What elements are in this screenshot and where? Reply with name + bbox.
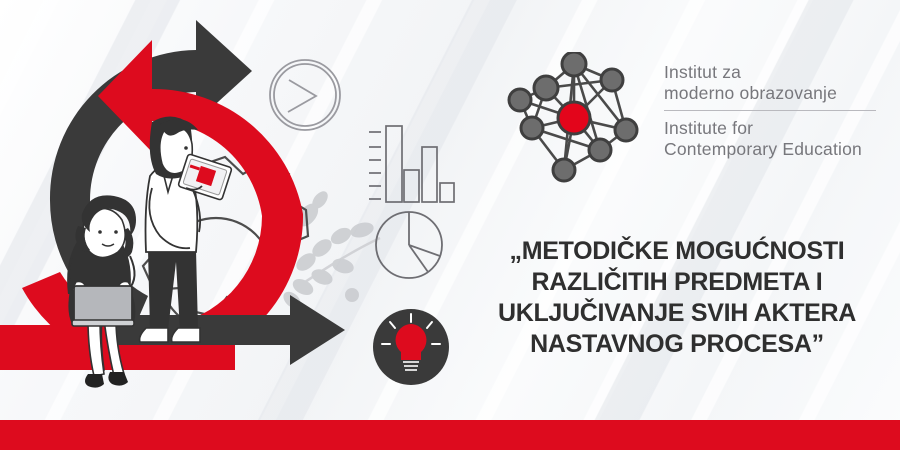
network-graph-logo-icon xyxy=(500,52,650,192)
headline-line-1: „METODIČKE MOGUĆNOSTI xyxy=(458,236,896,267)
laptop xyxy=(72,286,134,326)
logo[interactable]: Institut za moderno obrazovanje Institut… xyxy=(500,52,876,192)
headline-line-2: RAZLIČITIH PREDMETA I xyxy=(458,267,896,298)
headline-line-4: NASTAVNOG PROCESA” xyxy=(458,329,896,360)
illustration xyxy=(0,0,480,420)
logo-text-block: Institut za moderno obrazovanje Institut… xyxy=(664,52,876,160)
logo-line-en-1: Institute for xyxy=(664,118,876,139)
promo-banner: Institut za moderno obrazovanje Institut… xyxy=(0,0,900,450)
bar-chart-icon xyxy=(369,126,454,202)
headline-line-3: UKLJUČIVANJE SVIH AKTERA xyxy=(458,298,896,329)
logo-line-en-2: Contemporary Education xyxy=(664,139,876,160)
bottom-red-bar xyxy=(0,420,900,450)
pie-chart-icon xyxy=(376,212,442,278)
lightbulb-icon xyxy=(373,309,449,385)
logo-line-sr-1: Institut za xyxy=(664,62,876,83)
logo-line-sr-2: moderno obrazovanje xyxy=(664,83,876,104)
headline: „METODIČKE MOGUĆNOSTI RAZLIČITIH PREDMET… xyxy=(458,236,896,360)
logo-divider xyxy=(664,110,876,111)
